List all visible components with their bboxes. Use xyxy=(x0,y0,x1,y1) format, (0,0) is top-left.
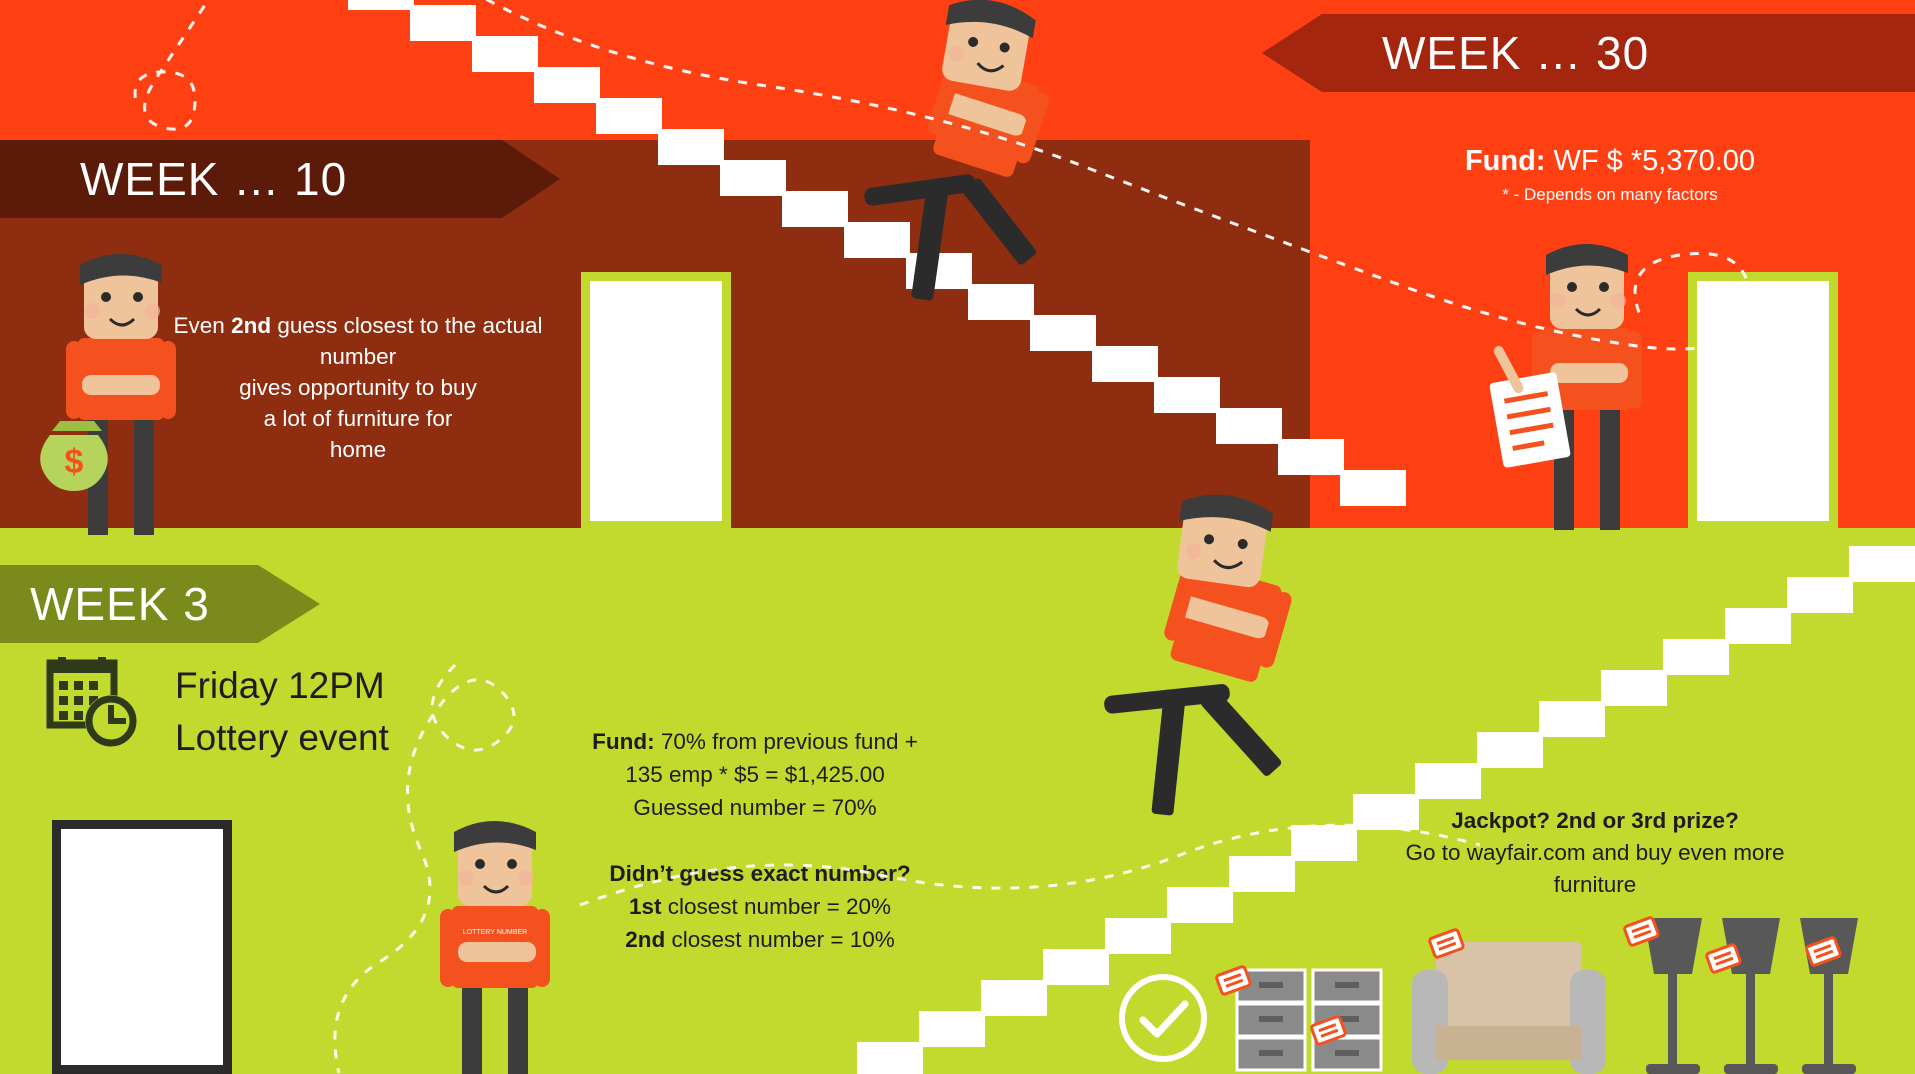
week10-line4: home xyxy=(330,437,386,462)
stair-step xyxy=(1167,887,1233,923)
jackpot-line1: Go to wayfair.com and buy even more xyxy=(1360,837,1830,869)
stair-step xyxy=(1216,408,1282,444)
door-week30[interactable] xyxy=(1688,272,1838,530)
jackpot-heading-text: Jackpot? 2nd or 3rd prize? xyxy=(1451,808,1739,833)
week3-fund-block: Fund: 70% from previous fund + 135 emp *… xyxy=(545,725,965,824)
banner-week-3: WEEK 3 xyxy=(0,565,320,643)
stair-step xyxy=(1601,670,1667,706)
stair-step xyxy=(596,98,662,134)
week3-guess-1st-rest: closest number = 20% xyxy=(662,894,892,919)
person-standing-with-money-bag: $ xyxy=(30,245,220,545)
door-week3[interactable] xyxy=(52,820,232,1074)
svg-text:$: $ xyxy=(65,443,84,481)
price-tag-icon xyxy=(1215,962,1255,1002)
week10-line2: gives opportunity to buy xyxy=(239,375,477,400)
stair-step xyxy=(1154,377,1220,413)
week3-event-name: Lottery event xyxy=(175,712,389,764)
jackpot-heading: Jackpot? 2nd or 3rd prize? xyxy=(1360,805,1830,837)
week30-fund-value: WF $ *5,370.00 xyxy=(1554,145,1756,177)
stair-step xyxy=(1043,949,1109,985)
stair-step xyxy=(1539,701,1605,737)
stair-step xyxy=(410,5,476,41)
banner-week-10: WEEK … 10 xyxy=(0,140,560,218)
week3-event-block: Friday 12PM Lottery event xyxy=(175,660,389,764)
stair-step xyxy=(534,67,600,103)
check-circle-icon xyxy=(1117,972,1209,1064)
svg-text:LOTTERY NUMBER: LOTTERY NUMBER xyxy=(463,929,527,936)
stair-step xyxy=(720,160,786,196)
week3-fund-line1-rest: 70% from previous fund + xyxy=(655,729,918,754)
stair-step xyxy=(348,0,414,10)
week10-line1-bold: 2nd xyxy=(231,313,271,338)
stair-step xyxy=(981,980,1047,1016)
week3-fund-line3: Guessed number = 70% xyxy=(545,791,965,824)
week3-guess-1st: 1st closest number = 20% xyxy=(560,890,960,923)
jackpot-block: Jackpot? 2nd or 3rd prize? Go to wayfair… xyxy=(1360,805,1830,901)
stair-step xyxy=(1278,439,1344,475)
stair-step xyxy=(1849,546,1915,582)
banner-week-3-label: WEEK 3 xyxy=(30,577,210,631)
jackpot-line2: furniture xyxy=(1360,869,1830,901)
price-tag-icon xyxy=(1623,913,1663,953)
stair-step xyxy=(1105,918,1171,954)
stair-step xyxy=(857,1042,923,1074)
week3-fund-line2: 135 emp * $5 = $1,425.00 xyxy=(545,758,965,791)
price-tag-icon xyxy=(1705,940,1745,980)
price-tag-icon xyxy=(1428,925,1468,965)
week30-fund-block: Fund: WF $ *5,370.00 * - Depends on many… xyxy=(1330,145,1890,205)
stair-step xyxy=(1030,315,1096,351)
stair-step xyxy=(1229,856,1295,892)
week3-guess-heading: Didn’t guess exact number? xyxy=(560,857,960,890)
week3-guess-2nd-rest: closest number = 10% xyxy=(665,927,895,952)
person-standing-with-clipboard xyxy=(1490,235,1690,535)
stair-step xyxy=(782,191,848,227)
door-week10[interactable] xyxy=(581,272,731,530)
week10-text-block: Even 2nd guess closest to the actual num… xyxy=(168,310,548,465)
person-standing-week3: LOTTERY NUMBER xyxy=(400,810,590,1074)
stair-step xyxy=(1725,608,1791,644)
banner-week-30-label: WEEK … 30 xyxy=(1382,26,1649,80)
stair-step xyxy=(472,36,538,72)
week3-guess-2nd: 2nd closest number = 10% xyxy=(560,923,960,956)
week30-fund-line: Fund: WF $ *5,370.00 xyxy=(1330,145,1890,178)
stair-step xyxy=(1291,825,1357,861)
person-climbing-upper-stairs xyxy=(880,5,1140,315)
week3-guess-2nd-bold: 2nd xyxy=(625,927,665,952)
stair-step xyxy=(1787,577,1853,613)
week3-event-time: Friday 12PM xyxy=(175,660,389,712)
stair-step xyxy=(1092,346,1158,382)
week3-fund-line1: Fund: 70% from previous fund + xyxy=(545,725,965,758)
week3-guess-heading-text: Didn’t guess exact number? xyxy=(609,861,910,886)
week10-line1-post: guess closest to the actual number xyxy=(271,313,542,369)
week3-guess-block: Didn’t guess exact number? 1st closest n… xyxy=(560,857,960,956)
week3-guess-1st-bold: 1st xyxy=(629,894,662,919)
price-tag-icon xyxy=(1310,1012,1350,1052)
week30-fund-footnote: * - Depends on many factors xyxy=(1330,185,1890,205)
stair-step xyxy=(1353,794,1419,830)
week30-fund-label: Fund: xyxy=(1465,145,1546,177)
stair-step xyxy=(1415,763,1481,799)
stair-step xyxy=(919,1011,985,1047)
stair-step xyxy=(1663,639,1729,675)
stair-step xyxy=(1477,732,1543,768)
stair-step xyxy=(658,129,724,165)
banner-week-10-label: WEEK … 10 xyxy=(80,152,347,206)
week10-line3: a lot of furniture for xyxy=(264,406,453,431)
person-climbing-lower-stairs xyxy=(1110,500,1390,820)
calendar-clock-icon xyxy=(48,655,144,751)
price-tag-icon xyxy=(1805,933,1845,973)
week3-fund-label: Fund: xyxy=(592,729,654,754)
banner-week-30: WEEK … 30 xyxy=(1262,14,1915,92)
